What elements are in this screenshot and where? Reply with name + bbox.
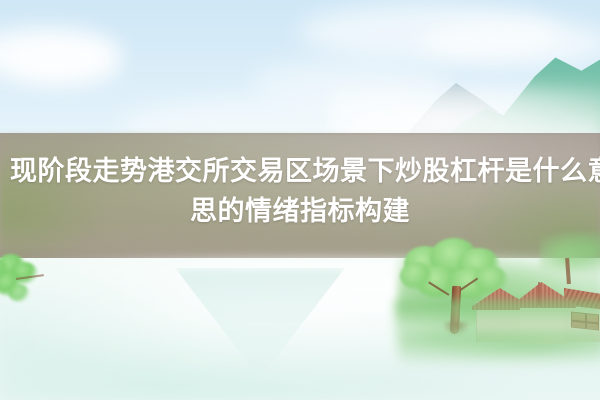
cloud-icon: [10, 44, 120, 84]
foliage-front: [400, 330, 600, 372]
leaf-sprig: [0, 252, 60, 314]
banner-title-line-1: 现阶段走势港交所交易区场景下炒股杠杆是什么意: [10, 152, 590, 192]
banner-title-line-2: 思的情绪指标构建: [10, 192, 590, 232]
illustration-banner: 现阶段走势港交所交易区场景下炒股杠杆是什么意 思的情绪指标构建: [0, 0, 600, 400]
cloud-icon: [420, 20, 600, 66]
banner-title: 现阶段走势港交所交易区场景下炒股杠杆是什么意 思的情绪指标构建: [0, 152, 600, 232]
